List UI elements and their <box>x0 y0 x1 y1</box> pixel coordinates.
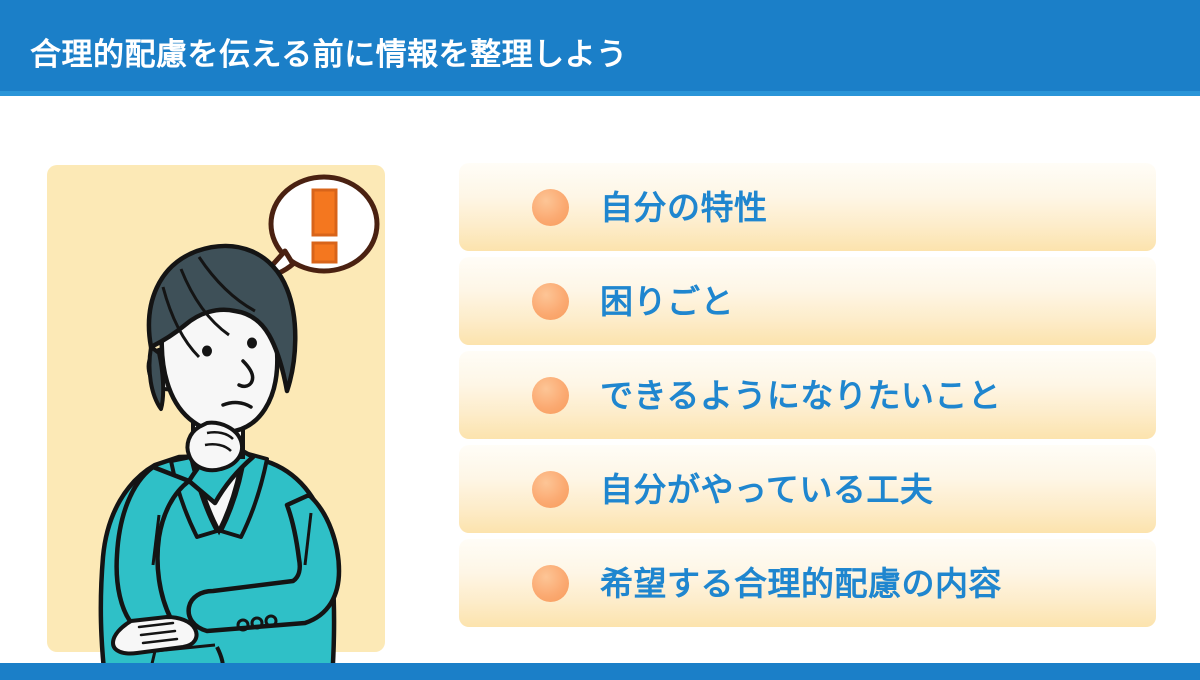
list-item-label: 困りごと <box>600 285 734 318</box>
thinking-person-illustration <box>47 165 385 680</box>
bullet-icon <box>532 189 569 226</box>
person-body <box>101 441 339 680</box>
person-head <box>149 246 296 470</box>
list-item[interactable]: 困りごと <box>459 257 1156 345</box>
list-item[interactable]: 自分がやっている工夫 <box>459 445 1156 533</box>
bullet-icon <box>532 471 569 508</box>
exclamation-speech-bubble <box>261 177 377 277</box>
footer-bar <box>0 663 1200 680</box>
header-bar: 合理的配慮を伝える前に情報を整理しよう <box>0 0 1200 91</box>
list-item-label: できるようになりたいこと <box>600 379 1001 412</box>
list-item[interactable]: 自分の特性 <box>459 163 1156 251</box>
information-checklist: 自分の特性 困りごと できるようになりたいこと 自分がやっている工夫 希望する合… <box>459 163 1156 633</box>
list-item[interactable]: できるようになりたいこと <box>459 351 1156 439</box>
list-item-label: 自分がやっている工夫 <box>600 473 933 506</box>
list-item[interactable]: 希望する合理的配慮の内容 <box>459 539 1156 627</box>
header-underline <box>0 91 1200 96</box>
list-item-label: 希望する合理的配慮の内容 <box>600 567 1002 600</box>
page-title: 合理的配慮を伝える前に情報を整理しよう <box>30 29 628 74</box>
bullet-icon <box>532 377 569 414</box>
list-item-label: 自分の特性 <box>600 191 768 224</box>
bullet-icon <box>532 283 569 320</box>
bullet-icon <box>532 565 569 602</box>
